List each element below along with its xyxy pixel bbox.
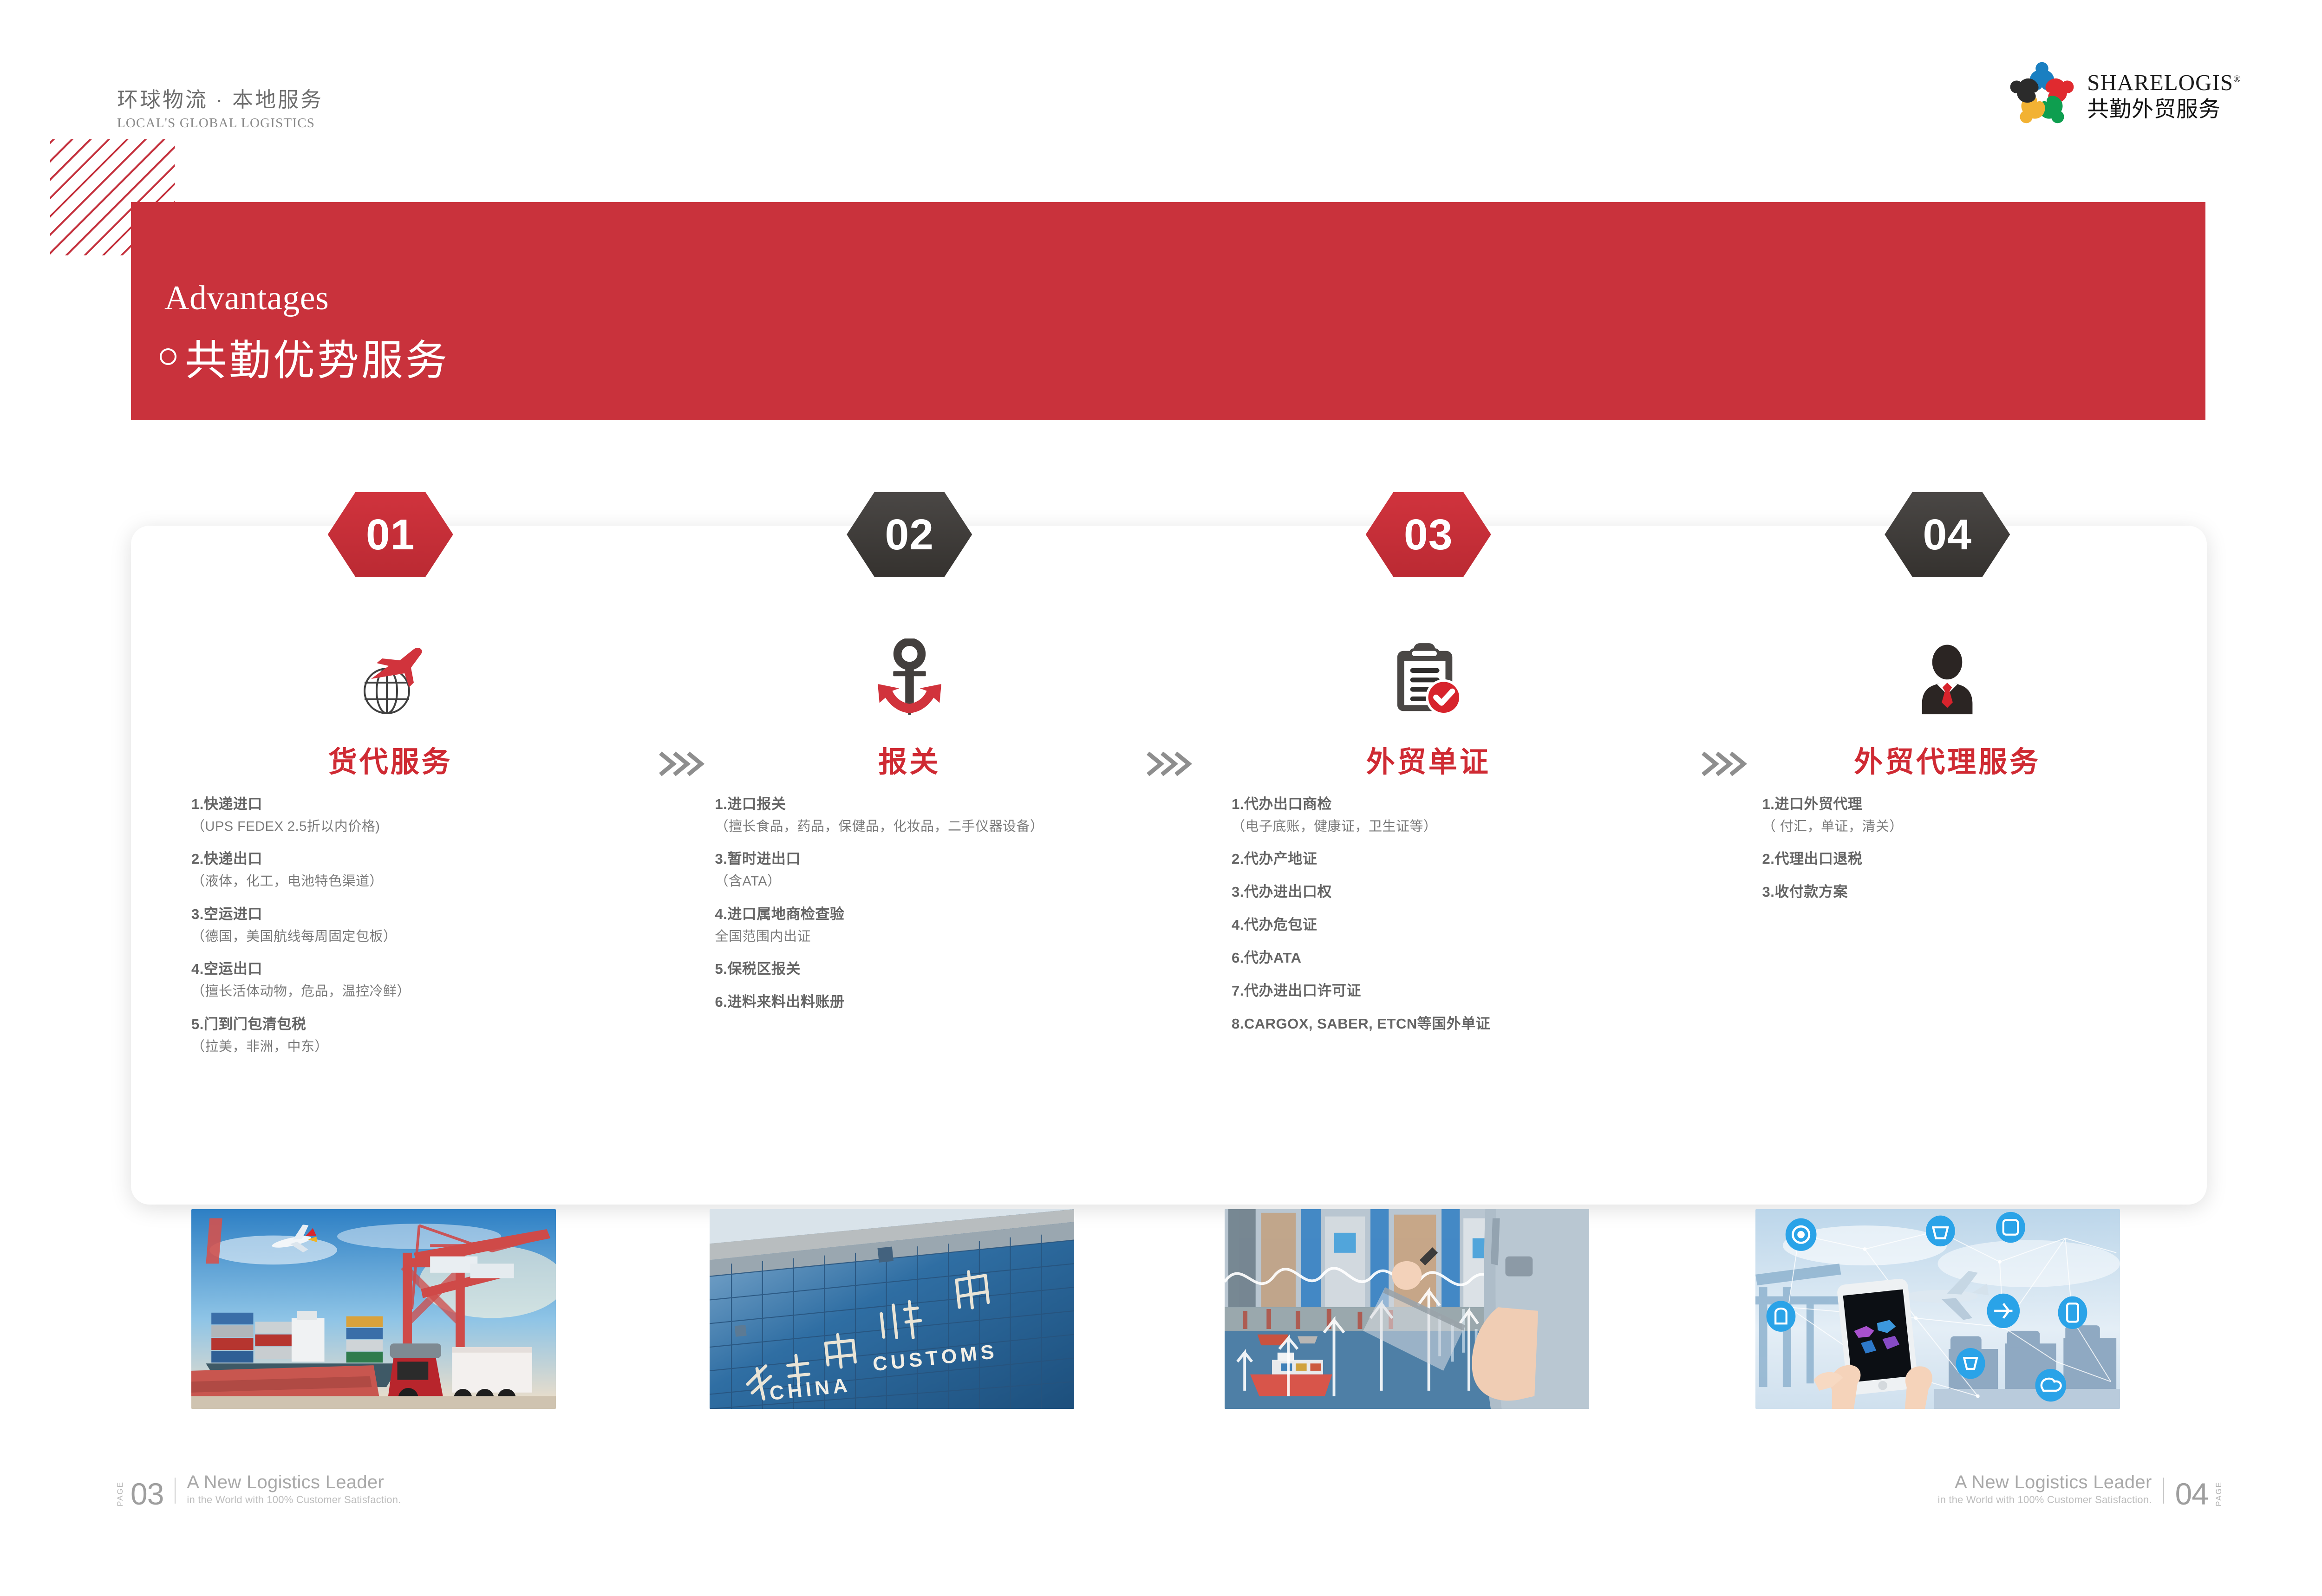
advantage-column-1: 01 货代服务 1.快递进口 （UPS FEDEX 2.5折以内价格) (131, 492, 650, 1217)
step-badge-03: 03 (1366, 492, 1491, 577)
photo-slot-3 (1169, 1209, 1688, 1409)
step-badge-02: 02 (847, 492, 972, 577)
page-number-right: 04 (2175, 1481, 2208, 1506)
advantage-list-3: 1.代办出口商检 （电子底账，健康证，卫生证等） 2.代办产地证 3.代办进出口… (1169, 794, 1688, 1047)
footer-left: PAGE 03 A New Logistics Leader in the Wo… (116, 1472, 401, 1506)
advantage-list-2: 1.进口报关 （擅长食品，药品，保健品，化妆品，二手仪器设备） 3.暂时进出口 … (650, 794, 1169, 1025)
advantage-column-4: 04 外贸代理服务 1.进口外贸代理 （ 付汇，单证，清关） 2.代理出口退税 … (1688, 492, 2207, 1217)
step-badge-01: 01 (328, 492, 453, 577)
advantage-title-2: 报关 (650, 738, 1169, 780)
airplane-globe-icon (342, 632, 439, 717)
list-item: 3.代办进出口权 (1232, 882, 1670, 903)
footer-right: A New Logistics Leader in the World with… (1938, 1472, 2223, 1506)
list-item: 2.代办产地证 (1232, 849, 1670, 870)
advantage-title-4: 外贸代理服务 (1688, 738, 2207, 780)
list-item: 5.保税区报关 (715, 959, 1151, 980)
circle-bullet-icon (160, 348, 176, 365)
advantage-list-1: 1.快递进口 （UPS FEDEX 2.5折以内价格) 2.快递出口 （液体，化… (131, 794, 650, 1069)
footer-tagline-line1: A New Logistics Leader (1938, 1472, 2152, 1493)
list-item: 2.快递出口 （液体，化工，电池特色渠道） (191, 849, 632, 892)
advantage-title-1: 货代服务 (131, 738, 650, 780)
list-item: 6.进料来料出料账册 (715, 992, 1151, 1013)
tablet-logistics-network-photo (1755, 1209, 2120, 1409)
advantage-column-3: 03 外贸单证 1.代办出口商检 （电子底账，健康证，卫生证等 (1169, 492, 1688, 1217)
port-truck-crane-photo (191, 1209, 556, 1409)
list-item: 3.空运进口 （德国，美国航线每周固定包板） (191, 904, 632, 947)
anchor-icon (861, 632, 958, 717)
photo-slot-2: CHINA CUSTOMS (650, 1209, 1169, 1409)
list-item: 1.进口报关 （擅长食品，药品，保健品，化妆品，二手仪器设备） (715, 794, 1151, 837)
banner-title-cn: 共勤优势服务 (185, 326, 450, 387)
footer-tagline-line2: in the World with 100% Customer Satisfac… (187, 1494, 401, 1506)
brand-name-cn: 环球物流 · 本地服务 (117, 83, 323, 113)
step-badge-label: 01 (366, 510, 415, 560)
inspector-clipboard-port-photo (1225, 1209, 1589, 1409)
footer-tagline-left: A New Logistics Leader in the World with… (187, 1472, 401, 1506)
step-badge-label: 04 (1923, 510, 1972, 560)
header-brand: 环球物流 · 本地服务 LOCAL'S GLOBAL LOGISTICS (117, 83, 323, 131)
list-item: 8.CARGOX, SABER, ETCN等国外单证 (1232, 1014, 1670, 1035)
list-item: 4.代办危包证 (1232, 915, 1670, 936)
photo-slot-4 (1688, 1209, 2207, 1409)
company-logo: SHARELOGIS® 共勤外贸服务 (2007, 60, 2241, 130)
list-item: 4.空运出口 （擅长活体动物，危品，温控冷鲜） (191, 959, 632, 1002)
logo-name-cn: 共勤外贸服务 (2087, 98, 2241, 120)
triple-chevron-right-icon (1695, 745, 1755, 782)
registered-mark-icon: ® (2233, 73, 2241, 84)
footer-divider (2163, 1478, 2164, 1504)
banner-title-en: Advantages (164, 279, 329, 318)
list-item: 6.代办ATA (1232, 948, 1670, 969)
footer-tagline-line2: in the World with 100% Customer Satisfac… (1938, 1494, 2152, 1506)
logo-name-en: SHARELOGIS® (2087, 71, 2241, 94)
list-item: 1.代办出口商检 （电子底账，健康证，卫生证等） (1232, 794, 1670, 837)
page-number-left: 03 (130, 1481, 163, 1506)
photo-strip: CHINA CUSTOMS (131, 1209, 2207, 1409)
list-item: 4.进口属地商检查验 全国范围内出证 (715, 904, 1151, 947)
list-item: 7.代办进出口许可证 (1232, 981, 1670, 1002)
list-item: 2.代理出口退税 (1762, 849, 2189, 870)
banner-title-cn-row: 共勤优势服务 (160, 326, 450, 387)
step-badge-04: 04 (1885, 492, 2010, 577)
china-customs-building-photo: CHINA CUSTOMS (710, 1209, 1074, 1409)
advantage-column-2: 02 报关 1.进口报关 （擅长食品，药品，保健品，化妆品，二手仪器设备） 3.… (650, 492, 1169, 1217)
people-circle-logo-icon (2007, 60, 2077, 130)
list-item: 1.进口外贸代理 （ 付汇，单证，清关） (1762, 794, 2189, 837)
step-badge-label: 03 (1404, 510, 1453, 560)
advantage-title-3: 外贸单证 (1169, 738, 1688, 780)
list-item: 1.快递进口 （UPS FEDEX 2.5折以内价格) (191, 794, 632, 837)
page-label-left: PAGE (116, 1479, 124, 1506)
page-label-right: PAGE (2215, 1479, 2223, 1506)
list-item: 3.暂时进出口 （含ATA） (715, 849, 1151, 892)
advantages-columns: 01 货代服务 1.快递进口 （UPS FEDEX 2.5折以内价格) (131, 492, 2207, 1217)
advantage-list-4: 1.进口外贸代理 （ 付汇，单证，清关） 2.代理出口退税 3.收付款方案 (1688, 794, 2207, 915)
list-item: 5.门到门包清包税 （拉美，非洲，中东） (191, 1014, 632, 1057)
section-banner: Advantages 共勤优势服务 (131, 202, 2205, 420)
triple-chevron-right-icon (652, 745, 713, 782)
businessman-icon (1898, 632, 1996, 717)
clipboard-check-icon (1380, 632, 1477, 717)
photo-slot-1 (131, 1209, 650, 1409)
brand-name-en: LOCAL'S GLOBAL LOGISTICS (117, 116, 323, 131)
footer-tagline-line1: A New Logistics Leader (187, 1472, 401, 1493)
list-item: 3.收付款方案 (1762, 882, 2189, 903)
footer-tagline-right: A New Logistics Leader in the World with… (1938, 1472, 2152, 1506)
triple-chevron-right-icon (1140, 745, 1200, 782)
footer-divider (175, 1478, 176, 1504)
step-badge-label: 02 (885, 510, 934, 560)
